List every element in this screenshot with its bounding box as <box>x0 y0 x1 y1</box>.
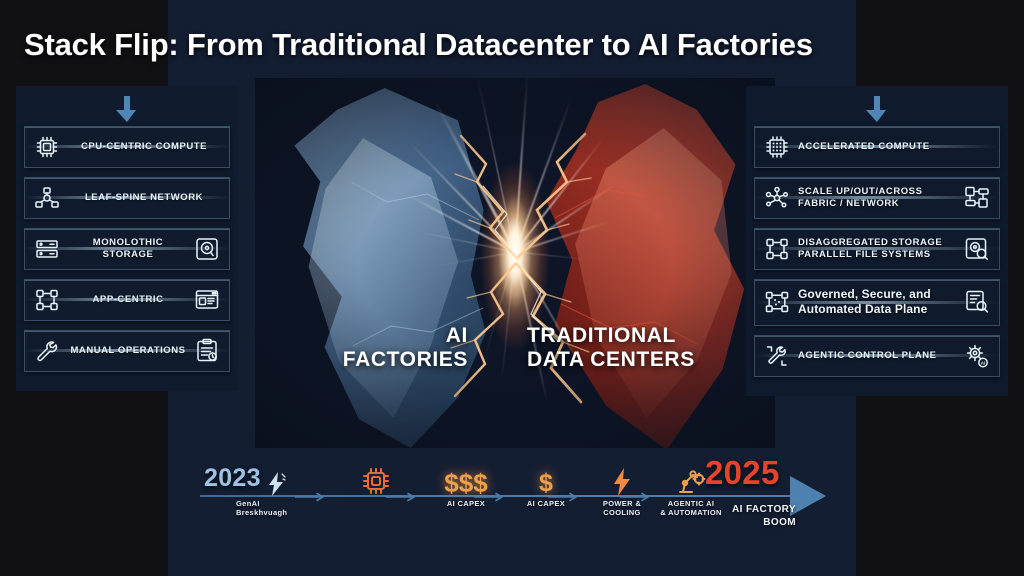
hero-label-traditional: TRADITIONAL DATA CENTERS <box>527 324 695 372</box>
disk-search-icon <box>964 236 990 262</box>
clipboard-clock-icon <box>194 338 220 364</box>
stack-item-label: Governed, Secure, andAutomated Data Plan… <box>798 287 958 318</box>
cpu-chip-icon <box>34 134 60 160</box>
server-rack-icon <box>34 236 60 262</box>
fabric-nodes-icon <box>964 185 990 211</box>
stack-item-label: DISAGGREGATED STORAGEPARALLEL FILE SYSTE… <box>798 237 958 261</box>
stack-item[interactable]: Governed, Secure, andAutomated Data Plan… <box>754 279 1000 326</box>
timeline-connector-arrow-icon <box>295 492 329 502</box>
hero-label-traditional-line2: DATA CENTERS <box>527 348 695 371</box>
traditional-stack-column: CPU-CENTRIC COMPUTELEAF-SPINE NETWORKMON… <box>16 86 238 391</box>
timeline-connector-arrow-icon <box>386 492 420 502</box>
timeline-step: GenAIBreskhvuagh <box>230 462 322 517</box>
down-arrow-icon <box>24 92 230 126</box>
gpu-chip-icon <box>764 134 790 160</box>
svg-text:AI: AI <box>981 360 985 365</box>
stack-item-label: LEAF-SPINE NETWORK <box>68 192 220 204</box>
ai-factory-stack-column: ACCELERATED COMPUTESCALE UP/OUT/ACROSSFA… <box>746 86 1008 396</box>
lightning-bolt-icon <box>230 462 322 496</box>
traditional-stack-list: CPU-CENTRIC COMPUTELEAF-SPINE NETWORKMON… <box>24 126 230 372</box>
stack-item[interactable]: SCALE UP/OUT/ACROSSFABRIC / NETWORK <box>754 177 1000 219</box>
timeline-connector-arrow-icon <box>548 492 582 502</box>
timeline-step-caption: AGENTIC AI& AUTOMATION <box>645 499 737 517</box>
timeline-connector-arrow-icon <box>620 492 654 502</box>
hero-label-traditional-line1: TRADITIONAL <box>527 324 676 347</box>
artwork-vignette <box>255 78 775 448</box>
stack-item[interactable]: MANUAL OPERATIONS <box>24 330 230 372</box>
stack-item[interactable]: ACCELERATED COMPUTE <box>754 126 1000 168</box>
wrench-config-icon <box>764 343 790 369</box>
hub-spoke-icon <box>764 185 790 211</box>
stack-item[interactable]: AGENTIC CONTROL PLANEAI <box>754 335 1000 377</box>
collision-artwork: TRADITIONAL DATA CENTERS AI FACTORIES <box>255 78 775 448</box>
stack-item[interactable]: APP-CENTRIC <box>24 279 230 321</box>
timeline-step <box>330 462 422 496</box>
stack-item-label: APP-CENTRIC <box>68 294 188 306</box>
stack-item[interactable]: MONOLOTHIC STORAGE <box>24 228 230 270</box>
hero-label-ai: AI FACTORIES <box>343 324 468 372</box>
nodes-grid-icon <box>34 287 60 313</box>
timeline-step: AGENTIC AI& AUTOMATION <box>645 462 737 517</box>
stack-item[interactable]: CPU-CENTRIC COMPUTE <box>24 126 230 168</box>
stack-item-label: AGENTIC CONTROL PLANE <box>798 350 958 362</box>
stack-item-label: SCALE UP/OUT/ACROSSFABRIC / NETWORK <box>798 186 958 210</box>
ai-factory-stack-list: ACCELERATED COMPUTESCALE UP/OUT/ACROSSFA… <box>754 126 1000 377</box>
page-title: Stack Flip: From Traditional Datacenter … <box>24 27 813 63</box>
stack-item-label: MANUAL OPERATIONS <box>68 345 188 357</box>
document-search-icon <box>964 289 990 315</box>
down-arrow-icon <box>754 92 1000 126</box>
nodes-grid-icon <box>764 236 790 262</box>
money-triple-icon: $$$ <box>420 462 512 496</box>
timeline: 2023 2025 AI FACTORYBOOM GenAIBreskhvuag… <box>190 452 840 558</box>
gear-ai-icon: AI <box>964 343 990 369</box>
browser-window-icon <box>194 287 220 313</box>
stack-item[interactable]: DISAGGREGATED STORAGEPARALLEL FILE SYSTE… <box>754 228 1000 270</box>
data-mesh-icon <box>764 289 790 315</box>
cpu-chip-icon <box>330 462 422 496</box>
stack-item-label: CPU-CENTRIC COMPUTE <box>68 141 220 153</box>
timeline-connector-arrow-icon <box>474 492 508 502</box>
stack-item-label: ACCELERATED COMPUTE <box>798 141 990 153</box>
hard-disk-icon <box>194 236 220 262</box>
wrench-icon <box>34 338 60 364</box>
stack-item[interactable]: LEAF-SPINE NETWORK <box>24 177 230 219</box>
hero-label-ai-line2: FACTORIES <box>343 348 468 371</box>
robot-arm-icon <box>645 462 737 496</box>
hero-label-ai-line1: AI <box>446 324 468 347</box>
network-topology-icon <box>34 185 60 211</box>
stack-item-label: MONOLOTHIC STORAGE <box>68 237 188 261</box>
